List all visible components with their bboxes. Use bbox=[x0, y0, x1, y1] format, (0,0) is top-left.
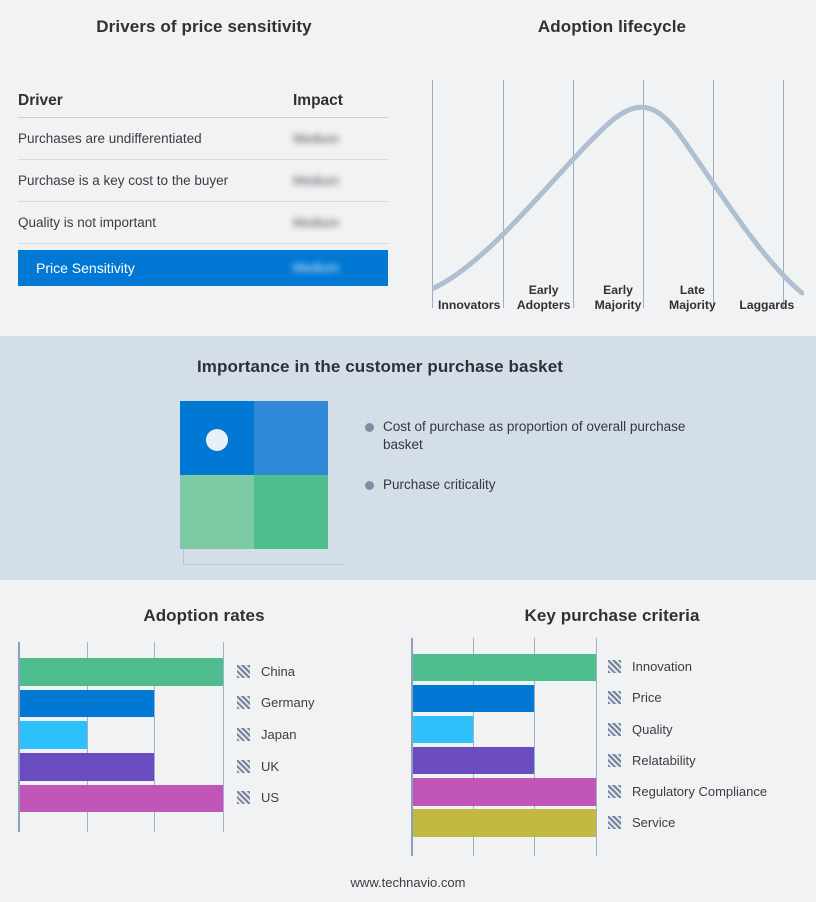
stage-label-early-majority: Early Majority bbox=[581, 272, 655, 314]
legend-swatch-icon bbox=[608, 785, 621, 798]
column-header-impact: Impact bbox=[293, 92, 388, 110]
chart-bar-row bbox=[413, 716, 596, 743]
impact-value: Medium bbox=[293, 173, 339, 188]
legend-item: Japan bbox=[237, 727, 296, 742]
chart-bar-row bbox=[20, 721, 223, 749]
legend-swatch-icon bbox=[608, 754, 621, 767]
legend-item: Germany bbox=[237, 695, 314, 710]
chart-bar-row bbox=[20, 753, 223, 781]
adoption-lifecycle-panel: Adoption lifecycle Innovators Early Adop… bbox=[408, 0, 816, 336]
legend-swatch-icon bbox=[237, 728, 250, 741]
quadrant-top-left bbox=[180, 401, 254, 475]
chart-bar-row bbox=[20, 690, 223, 718]
legend-label: Innovation bbox=[632, 659, 692, 674]
key-purchase-criteria-title: Key purchase criteria bbox=[408, 606, 816, 626]
legend-item: China bbox=[237, 664, 295, 679]
legend-item: Quality bbox=[608, 722, 672, 737]
chart-bar-row bbox=[413, 809, 596, 836]
driver-label: Purchase is a key cost to the buyer bbox=[18, 173, 293, 188]
legend-swatch-icon bbox=[608, 691, 621, 704]
chart-gridline bbox=[223, 642, 224, 832]
legend-label: China bbox=[261, 664, 295, 679]
table-header-row: Driver Impact bbox=[18, 92, 388, 118]
impact-value: Medium bbox=[293, 215, 339, 230]
chart-bar-uk bbox=[20, 753, 154, 781]
legend-label: US bbox=[261, 790, 279, 805]
legend-swatch-icon bbox=[237, 665, 250, 678]
legend-label: Price bbox=[632, 690, 662, 705]
legend-item: US bbox=[237, 790, 279, 805]
drivers-panel: Drivers of price sensitivity Driver Impa… bbox=[0, 0, 408, 336]
legend-item: Cost of purchase as proportion of overal… bbox=[365, 418, 695, 454]
legend-label: Germany bbox=[261, 695, 314, 710]
table-row: Purchase is a key cost to the buyer Medi… bbox=[18, 160, 388, 202]
summary-impact-cell: Medium bbox=[293, 259, 388, 277]
legend-item: Price bbox=[608, 690, 662, 705]
purchase-basket-panel: Importance in the customer purchase bask… bbox=[0, 336, 816, 580]
purchase-basket-legend: Cost of purchase as proportion of overal… bbox=[365, 418, 695, 516]
legend-item: Regulatory Compliance bbox=[608, 784, 767, 799]
legend-item: Relatability bbox=[608, 753, 696, 768]
bullet-icon bbox=[365, 481, 374, 490]
adoption-lifecycle-stage-labels: Innovators Early Adopters Early Majority… bbox=[432, 272, 804, 314]
driver-label: Quality is not important bbox=[18, 215, 293, 230]
legend-swatch-icon bbox=[237, 760, 250, 773]
quadrant-bottom-left bbox=[180, 475, 254, 549]
chart-bar-japan bbox=[20, 721, 87, 749]
impact-value: Medium bbox=[293, 131, 339, 146]
legend-label: Relatability bbox=[632, 753, 696, 768]
adoption-rates-panel: Adoption rates ChinaGermanyJapanUKUS bbox=[0, 580, 408, 902]
chart-gridline bbox=[596, 638, 597, 856]
footer-url: www.technavio.com bbox=[0, 875, 816, 890]
summary-impact-value: Medium bbox=[293, 260, 339, 275]
chart-bar-row bbox=[413, 778, 596, 805]
chart-bar-regulatory-compliance bbox=[413, 778, 596, 805]
chart-bar-us bbox=[20, 785, 223, 813]
stage-label-laggards: Laggards bbox=[730, 272, 804, 314]
legend-item: Service bbox=[608, 815, 675, 830]
chart-bar-price bbox=[413, 685, 534, 712]
table-row: Quality is not important Medium bbox=[18, 202, 388, 244]
stage-label-innovators: Innovators bbox=[432, 272, 506, 314]
key-purchase-criteria-panel: Key purchase criteria InnovationPriceQua… bbox=[408, 580, 816, 902]
legend-label: UK bbox=[261, 759, 279, 774]
legend-swatch-icon bbox=[608, 816, 621, 829]
purchase-basket-title: Importance in the customer purchase bask… bbox=[0, 357, 760, 377]
legend-label: Quality bbox=[632, 722, 672, 737]
quadrant-bottom-right bbox=[254, 475, 328, 549]
impact-value-cell: Medium bbox=[293, 214, 388, 232]
chart-bar-row bbox=[413, 685, 596, 712]
adoption-rates-chart bbox=[18, 642, 223, 832]
legend-item: UK bbox=[237, 759, 279, 774]
quadrant-top-right bbox=[254, 401, 328, 475]
stage-label-early-adopters: Early Adopters bbox=[506, 272, 580, 314]
chart-bar-row bbox=[413, 747, 596, 774]
price-sensitivity-summary-row: Price Sensitivity Medium bbox=[18, 250, 388, 286]
legend-label: Regulatory Compliance bbox=[632, 784, 767, 799]
adoption-lifecycle-title: Adoption lifecycle bbox=[408, 17, 816, 37]
chart-bar-row bbox=[20, 785, 223, 813]
quadrant-matrix bbox=[180, 401, 345, 566]
chart-bar-china bbox=[20, 658, 223, 686]
legend-label: Japan bbox=[261, 727, 296, 742]
key-purchase-criteria-plot bbox=[411, 638, 596, 856]
chart-bar-relatability bbox=[413, 747, 534, 774]
drivers-title: Drivers of price sensitivity bbox=[0, 17, 408, 37]
drivers-table: Driver Impact Purchases are undifferenti… bbox=[18, 92, 388, 286]
chart-bar-germany bbox=[20, 690, 154, 718]
driver-label: Purchases are undifferentiated bbox=[18, 131, 293, 146]
legend-swatch-icon bbox=[237, 791, 250, 804]
legend-swatch-icon bbox=[608, 660, 621, 673]
legend-label: Purchase criticality bbox=[383, 476, 496, 494]
chart-bar-service bbox=[413, 809, 596, 836]
quadrant-position-marker bbox=[206, 429, 228, 451]
impact-value-cell: Medium bbox=[293, 130, 388, 148]
impact-value-cell: Medium bbox=[293, 172, 388, 190]
legend-swatch-icon bbox=[608, 723, 621, 736]
chart-bar-row bbox=[20, 658, 223, 686]
adoption-rates-title: Adoption rates bbox=[0, 606, 408, 626]
column-header-driver: Driver bbox=[18, 92, 293, 110]
summary-label: Price Sensitivity bbox=[18, 260, 293, 276]
legend-swatch-icon bbox=[237, 696, 250, 709]
stage-label-late-majority: Late Majority bbox=[655, 272, 729, 314]
adoption-rates-plot bbox=[18, 642, 223, 832]
legend-label: Service bbox=[632, 815, 675, 830]
legend-label: Cost of purchase as proportion of overal… bbox=[383, 418, 695, 454]
key-purchase-criteria-chart bbox=[411, 638, 596, 856]
table-row: Purchases are undifferentiated Medium bbox=[18, 118, 388, 160]
legend-item: Purchase criticality bbox=[365, 476, 695, 494]
chart-bar-row bbox=[413, 654, 596, 681]
bullet-icon bbox=[365, 423, 374, 432]
chart-bar-quality bbox=[413, 716, 473, 743]
legend-item: Innovation bbox=[608, 659, 692, 674]
chart-bar-innovation bbox=[413, 654, 596, 681]
